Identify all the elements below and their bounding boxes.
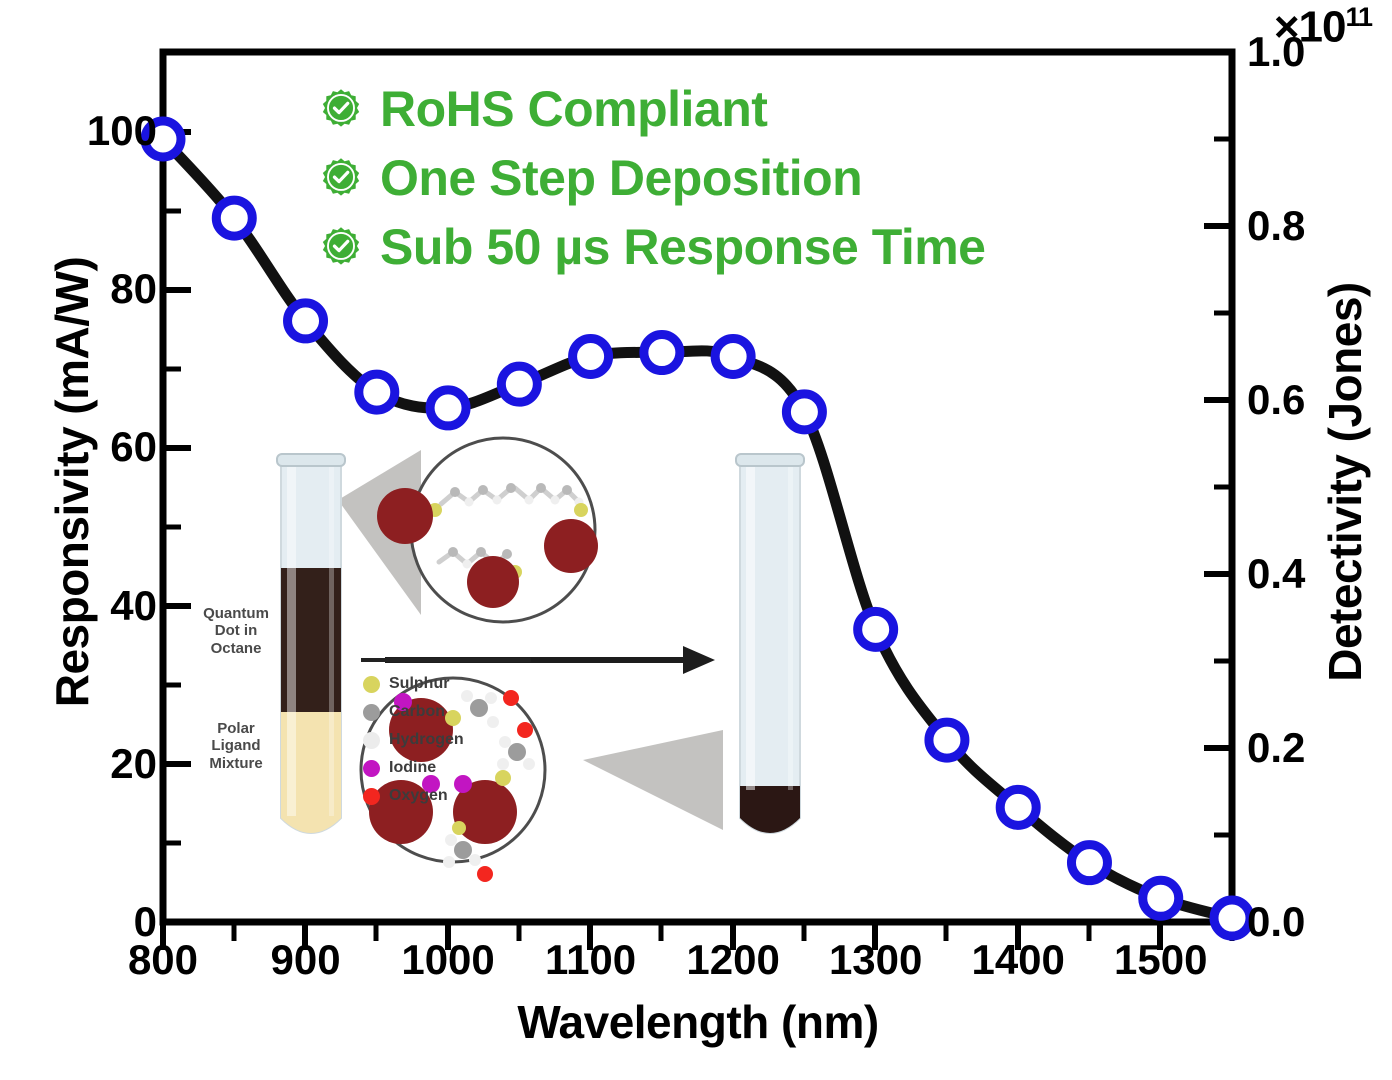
legend-divider [361, 658, 531, 662]
y-axis-label-left: Responsivity (mA/W) [45, 152, 99, 812]
data-point-marker [288, 303, 324, 339]
feature-label: Sub 50 µs Response Time [380, 222, 986, 272]
x-axis-label: Wavelength (nm) [163, 995, 1233, 1049]
inset-graphics [163, 430, 863, 900]
x-tick-label: 1300 [796, 936, 956, 984]
y-tick-label-left: 20 [0, 740, 157, 788]
data-point-marker [573, 339, 609, 375]
verified-badge-icon [320, 157, 362, 199]
feature-highlight-list: RoHS Compliant One Step Deposition Sub 5… [320, 78, 1220, 285]
x-tick-label: 1100 [511, 936, 671, 984]
verified-badge-icon [320, 226, 362, 268]
data-point-marker [1143, 880, 1179, 916]
y-tick-label-left: 60 [0, 423, 157, 471]
atom-colour-swatch [363, 760, 380, 777]
data-point-marker [929, 722, 965, 758]
caption-quantum-dot-in-octane: Quantum Dot in Octane [181, 605, 291, 657]
y-tick-label-left: 80 [0, 265, 157, 313]
data-point-marker [715, 339, 751, 375]
y-tick-label-right: 1.0 [1247, 28, 1392, 76]
data-point-marker [359, 374, 395, 410]
atom-legend-label: Oxygen [389, 787, 448, 805]
atom-legend-row: Iodine [363, 754, 464, 782]
magnifier-cone-bottom [583, 730, 723, 830]
feature-label: One Step Deposition [380, 153, 862, 203]
process-illustration-inset: Quantum Dot in Octane Polar Ligand Mixtu… [163, 430, 863, 900]
feature-row: RoHS Compliant [320, 78, 1220, 140]
data-point-marker [1000, 789, 1036, 825]
x-tick-label: 1400 [938, 936, 1098, 984]
y-tick-label-right: 0.4 [1247, 550, 1392, 598]
atom-legend-label: Iodine [389, 759, 436, 777]
data-point-marker [430, 390, 466, 426]
atom-legend-row: Oxygen [363, 782, 464, 810]
atom-legend-row: Hydrogen [363, 726, 464, 754]
feature-row: One Step Deposition [320, 147, 1220, 209]
atom-colour-swatch [363, 732, 380, 749]
y-axis-label-right: Detectivity (Jones) [1318, 152, 1372, 812]
x-tick-label: 1500 [1081, 936, 1241, 984]
feature-row: Sub 50 µs Response Time [320, 216, 1220, 278]
x-tick-label: 1000 [368, 936, 528, 984]
atom-legend-row: Sulphur [363, 670, 464, 698]
atom-legend-row: Carbon [363, 698, 464, 726]
right-test-tube [736, 454, 804, 833]
x-tick-label: 1200 [653, 936, 813, 984]
data-point-marker [858, 611, 894, 647]
atom-legend-label: Sulphur [389, 675, 449, 693]
y-tick-label-left: 100 [0, 107, 157, 155]
verified-badge-icon [320, 88, 362, 130]
chart-figure: Quantum Dot in Octane Polar Ligand Mixtu… [0, 0, 1392, 1080]
x-tick-label: 900 [226, 936, 386, 984]
y-tick-label-right: 0.2 [1247, 724, 1392, 772]
data-point-marker [644, 335, 680, 371]
y-tick-label-right: 0.6 [1247, 376, 1392, 424]
feature-label: RoHS Compliant [380, 84, 767, 134]
y-tick-label-right: 0.8 [1247, 202, 1392, 250]
atom-colour-swatch [363, 676, 380, 693]
atom-colour-swatch [363, 788, 380, 805]
data-point-marker [216, 200, 252, 236]
x-tick-label: 800 [83, 936, 243, 984]
atom-legend-label: Carbon [389, 703, 445, 721]
data-point-marker [1214, 900, 1250, 936]
atom-colour-swatch [363, 704, 380, 721]
caption-polar-ligand-mixture: Polar Ligand Mixture [181, 720, 291, 772]
atom-legend-label: Hydrogen [389, 731, 464, 749]
data-point-marker [501, 366, 537, 402]
data-point-marker [786, 394, 822, 430]
y-tick-label-right: 0.0 [1247, 898, 1392, 946]
y-tick-label-left: 40 [0, 582, 157, 630]
data-point-marker [1071, 845, 1107, 881]
atom-colour-legend: Sulphur Carbon Hydrogen Iodine Oxygen [363, 670, 464, 810]
